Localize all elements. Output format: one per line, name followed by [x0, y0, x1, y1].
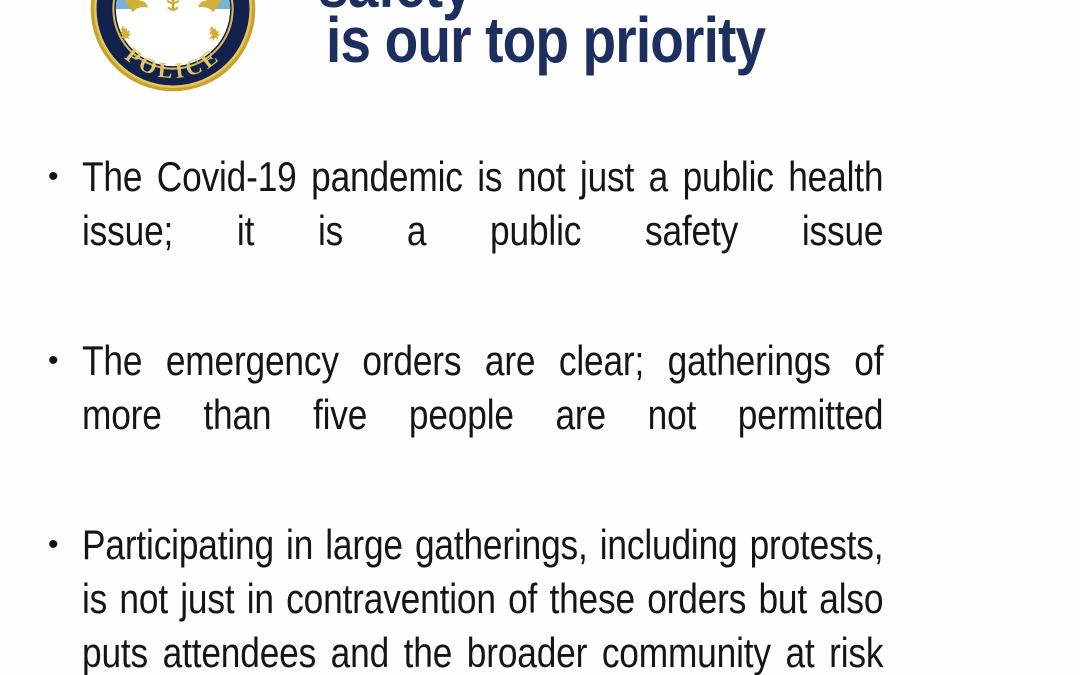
toronto-police-crest-logo: POLICE [89, 0, 257, 93]
bullet-marker-icon: • [44, 334, 82, 388]
list-item: • The emergency orders are clear; gather… [44, 334, 1036, 496]
list-item-text: The emergency orders are clear; gatherin… [82, 334, 883, 496]
page-title: is our top priority [326, 2, 765, 78]
presentation-slide: POLICE safety is our top priority • The … [0, 0, 1080, 675]
bullet-marker-icon: • [44, 518, 82, 572]
list-item: • Participating in large gatherings, inc… [44, 518, 1036, 675]
bullet-marker-icon: • [44, 150, 82, 204]
slide-header: POLICE safety is our top priority [0, 0, 1080, 108]
list-item-text: Participating in large gatherings, inclu… [82, 518, 883, 675]
list-item: • The Covid-19 pandemic is not just a pu… [44, 150, 1036, 312]
bullet-list: • The Covid-19 pandemic is not just a pu… [44, 150, 1036, 675]
list-item-text: The Covid-19 pandemic is not just a publ… [82, 150, 883, 312]
